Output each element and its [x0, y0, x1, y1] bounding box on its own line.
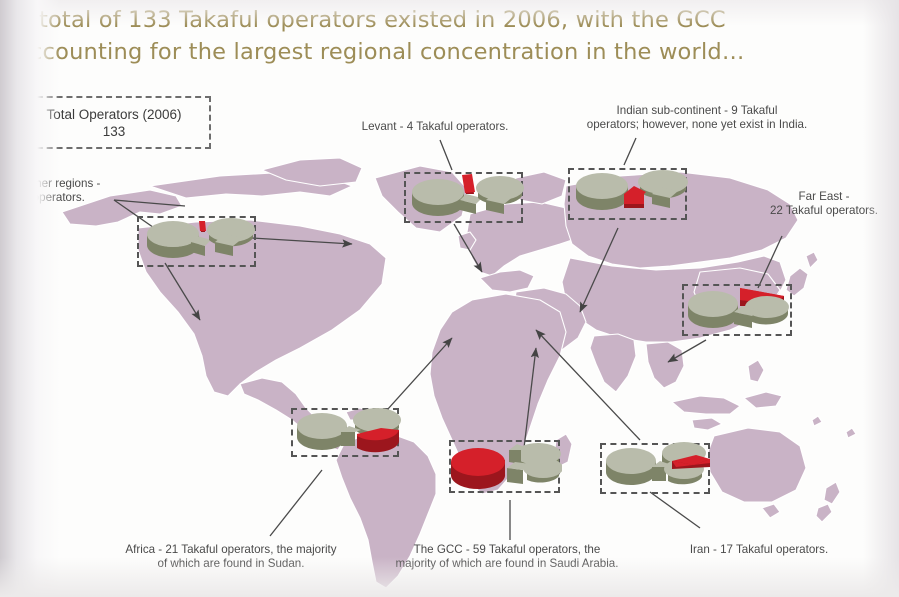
- callout-other-regions: Other regions - 2 operators.: [23, 177, 143, 205]
- arrow-indian-india: [580, 228, 618, 312]
- callout-indian-line-2: operators; however, none yet exist in In…: [561, 118, 833, 132]
- callout-far-east-line-1: Far East -: [751, 190, 897, 204]
- page-title: A total of 133 Takaful operators existed…: [16, 4, 816, 68]
- callout-levant: Levant - 4 Takaful operators.: [330, 120, 540, 134]
- leader-africa: [270, 470, 322, 536]
- callout-other-regions-line-2: 2 operators.: [23, 191, 143, 205]
- pie-card-iran: [600, 443, 710, 494]
- pie-africa: [289, 404, 401, 461]
- total-operators-heading: Total Operators (2006): [46, 106, 181, 123]
- callout-iran: Iran - 17 Takaful operators.: [659, 543, 859, 557]
- pie-card-africa: [291, 408, 399, 457]
- slide-canvas: A total of 133 Takaful operators existed…: [0, 0, 899, 597]
- pie-iran: [598, 439, 712, 498]
- total-operators-value: 133: [103, 123, 126, 140]
- callout-other-regions-line-1: Other regions -: [23, 177, 143, 191]
- pie-gcc: [447, 436, 562, 497]
- pie-card-gcc: [449, 440, 560, 493]
- callout-indian-line-1: Indian sub-continent - 9 Takaful: [561, 104, 833, 118]
- callout-far-east: Far East - 22 Takaful operators.: [751, 190, 897, 218]
- callout-gcc-line-2: majority of which are found in Saudi Ara…: [374, 557, 640, 571]
- callout-africa-line-2: of which are found in Sudan.: [92, 557, 370, 571]
- callout-africa-line-1: Africa - 21 Takaful operators, the major…: [92, 543, 370, 557]
- pie-levant: [402, 168, 525, 227]
- title-line-2: accounting for the largest regional conc…: [16, 36, 816, 68]
- arrow-far-east-sea: [668, 340, 706, 362]
- callout-indian-subcontinent: Indian sub-continent - 9 Takaful operato…: [561, 104, 833, 132]
- callout-africa: Africa - 21 Takaful operators, the major…: [92, 543, 370, 571]
- leader-indian: [624, 138, 636, 165]
- callout-iran-line-1: Iran - 17 Takaful operators.: [659, 543, 859, 557]
- leader-levant: [440, 140, 452, 170]
- pie-indian-subcontinent: [566, 164, 689, 224]
- pie-card-levant: [404, 172, 523, 223]
- pie-card-far-east: [682, 284, 792, 336]
- total-operators-box: Total Operators (2006) 133: [17, 96, 211, 149]
- arrow-iran-map: [536, 330, 640, 440]
- pie-far-east: [680, 280, 794, 340]
- arrow-levant-mideast: [454, 224, 482, 272]
- arrow-other-regions-europe: [252, 238, 352, 244]
- pie-card-other-regions: [137, 216, 256, 267]
- pie-card-indian-subcontinent: [568, 168, 687, 220]
- callout-gcc-line-1: The GCC - 59 Takaful operators, the: [374, 543, 640, 557]
- callout-far-east-line-2: 22 Takaful operators.: [751, 204, 897, 218]
- title-line-1: A total of 133 Takaful operators existed…: [16, 4, 816, 36]
- callout-gcc: The GCC - 59 Takaful operators, the majo…: [374, 543, 640, 571]
- arrow-gcc-arabia: [524, 348, 536, 448]
- callout-levant-line-1: Levant - 4 Takaful operators.: [330, 120, 540, 134]
- pie-other-regions: [135, 212, 258, 271]
- arrow-other-regions-americas: [165, 263, 200, 320]
